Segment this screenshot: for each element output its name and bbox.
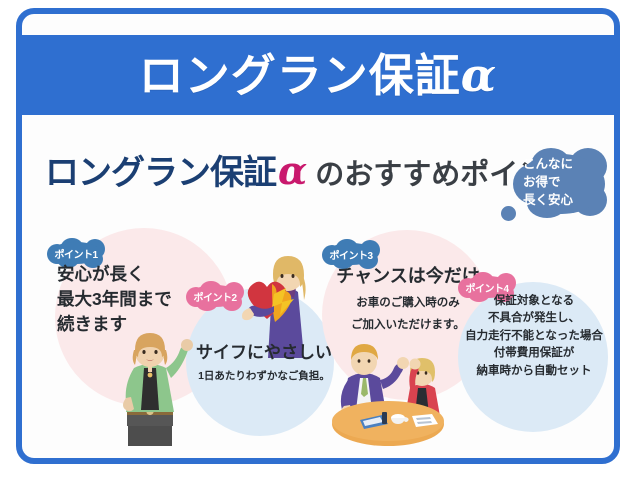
point-1-badge-label: ポイント1: [47, 246, 105, 261]
point-4-sub-line-5: 納車時から自動セット: [456, 363, 612, 380]
point-2-sub: 1日あたりわずかなご負担。: [191, 369, 337, 384]
point-4-badge-label: ポイント4: [458, 280, 516, 295]
title-brand: ロングラン保証: [139, 50, 461, 101]
speech-bubble-line-3: 長く安心: [523, 192, 605, 210]
point-4-sub-line-1: 保証対象となる: [456, 293, 612, 310]
illustration-couple-at-table: [318, 338, 458, 448]
point-2-badge-label: ポイント2: [186, 289, 244, 304]
title-banner-text: ロングラン保証α: [139, 52, 497, 98]
point-1-line-2: 最大3年間まで: [57, 287, 172, 312]
illustration-woman-green-cardigan: [104, 328, 196, 446]
headline-brand: ロングラン保証: [45, 154, 276, 192]
headline: ロングラン保証αのおすすめポイント: [45, 152, 576, 190]
point-4-sub-line-2: 不具合が発生し、: [456, 310, 612, 327]
warranty-poster: ロングラン保証α ロングラン保証αのおすすめポイント こんなに お得で 長く安心: [0, 0, 640, 480]
speech-bubble-line-2: お得で: [523, 174, 605, 192]
point-1-text: 安心が長く 最大3年間まで 続きます: [57, 262, 172, 337]
title-alpha: α: [461, 48, 497, 102]
point-2-badge: ポイント2: [186, 281, 244, 311]
point-2-text: サイフにやさしい 1日あたりわずかなご負担。: [191, 341, 337, 384]
point-2-lead: サイフにやさしい: [191, 341, 337, 365]
point-3-badge-label: ポイント3: [322, 247, 380, 262]
speech-bubble: こんなに お得で 長く安心: [513, 148, 609, 220]
speech-bubble-line-1: こんなに: [523, 156, 605, 174]
point-1-line-3: 続きます: [57, 312, 172, 337]
point-4-sub-line-3: 自力走行不能となった場合: [456, 328, 612, 345]
point-1-line-1: 安心が長く: [57, 262, 172, 287]
point-4-text: 保証対象となる 不具合が発生し、 自力走行不能となった場合 付帯費用保証が 納車…: [456, 293, 612, 380]
point-4-sub-line-4: 付帯費用保証が: [456, 345, 612, 362]
speech-bubble-tail: [501, 206, 516, 221]
headline-alpha: α: [276, 148, 309, 193]
title-banner: ロングラン保証α: [16, 35, 620, 115]
speech-bubble-text: こんなに お得で 長く安心: [523, 156, 605, 209]
